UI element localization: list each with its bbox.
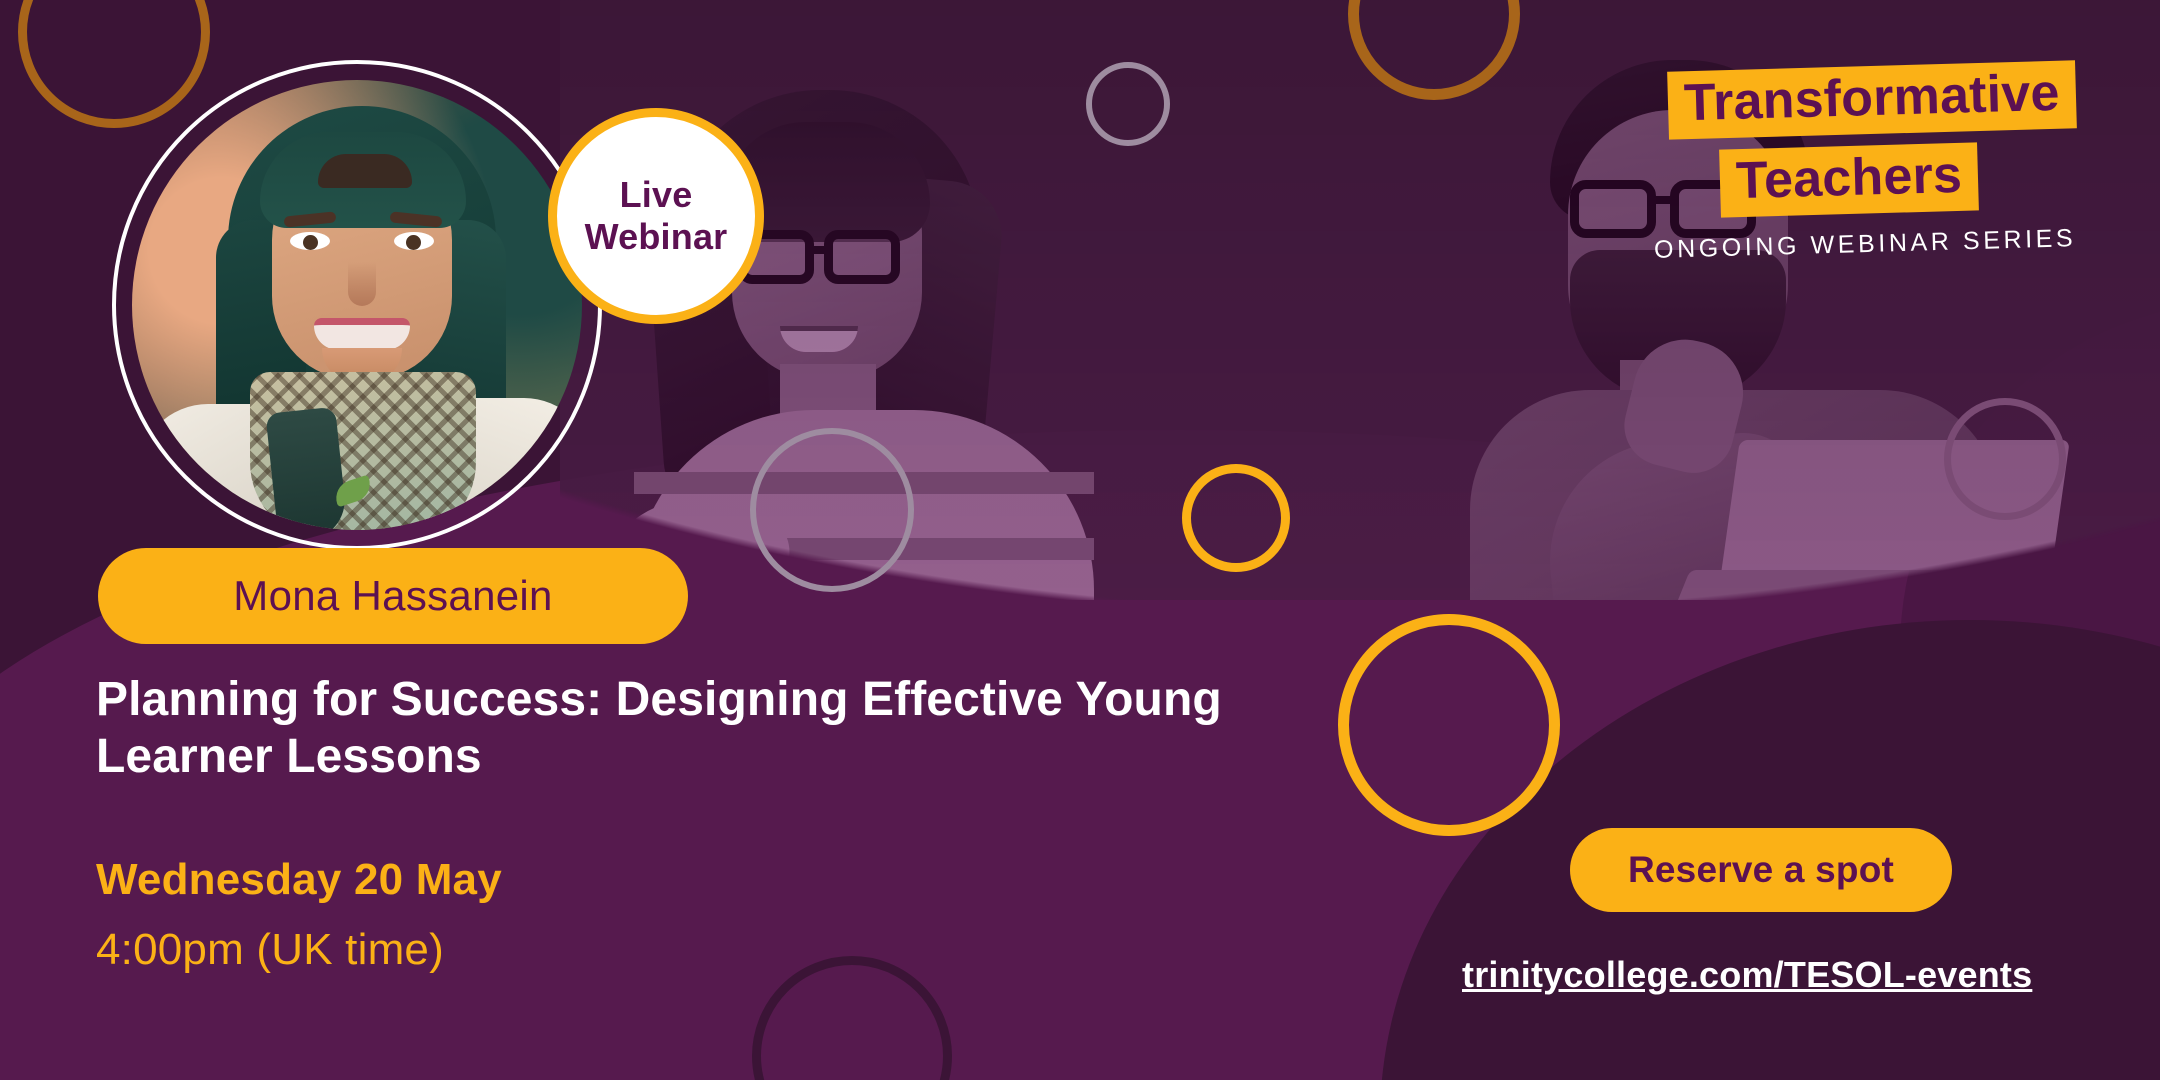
ring-top-center-grey (1086, 62, 1170, 146)
ring-bottom-center-purple (752, 956, 952, 1080)
live-badge-line-2: Webinar (585, 216, 728, 258)
live-badge-line-1: Live (620, 174, 693, 216)
event-time: 4:00pm (UK time) (96, 925, 444, 975)
event-date: Wednesday 20 May (96, 855, 502, 905)
event-url-link[interactable]: trinitycollege.com/TESOL-events (1462, 954, 2032, 996)
brand-lockup: Transformative Teachers ONGOING WEBINAR … (1654, 66, 2076, 259)
ring-mid-left-grey (750, 428, 914, 592)
speaker-photo-ring (112, 60, 602, 550)
brand-subtitle: ONGOING WEBINAR SERIES (1653, 224, 2076, 265)
speaker-name-label: Mona Hassanein (233, 572, 552, 620)
ring-right-edge-purple (1944, 398, 2066, 520)
ring-mid-center-gold (1182, 464, 1290, 572)
webinar-promo-banner: Live Webinar Mona Hassanein Planning for… (0, 0, 2160, 1080)
live-webinar-badge: Live Webinar (548, 108, 764, 324)
brand-line-transformative: Transformative (1668, 60, 2077, 139)
ring-large-gold (1338, 614, 1560, 836)
speaker-name-pill: Mona Hassanein (98, 548, 688, 644)
brand-line-teachers: Teachers (1719, 142, 1979, 217)
webinar-title: Planning for Success: Designing Effectiv… (96, 672, 1356, 785)
speaker-avatar (112, 60, 602, 550)
reserve-a-spot-button[interactable]: Reserve a spot (1570, 828, 1952, 912)
